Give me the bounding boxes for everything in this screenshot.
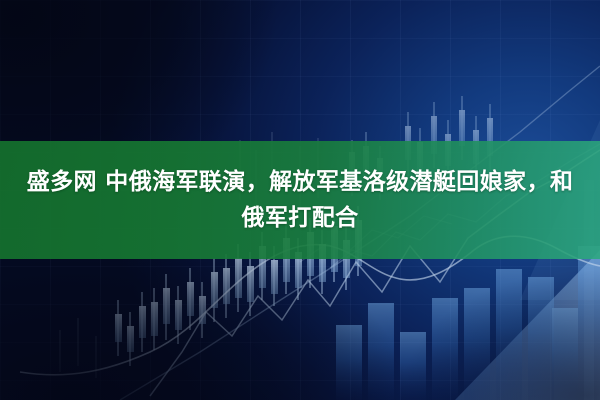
headline-full-text: 盛多网 中俄海军联演，解放军基洛级潜艇回娘家，和俄军打配合 — [27, 169, 574, 231]
banner-image: 盛多网 中俄海军联演，解放军基洛级潜艇回娘家，和俄军打配合 — [0, 0, 600, 400]
headline-text-block: 盛多网 中俄海军联演，解放军基洛级潜艇回娘家，和俄军打配合 — [20, 164, 580, 236]
headline-band: 盛多网 中俄海军联演，解放军基洛级潜艇回娘家，和俄军打配合 — [0, 141, 600, 259]
